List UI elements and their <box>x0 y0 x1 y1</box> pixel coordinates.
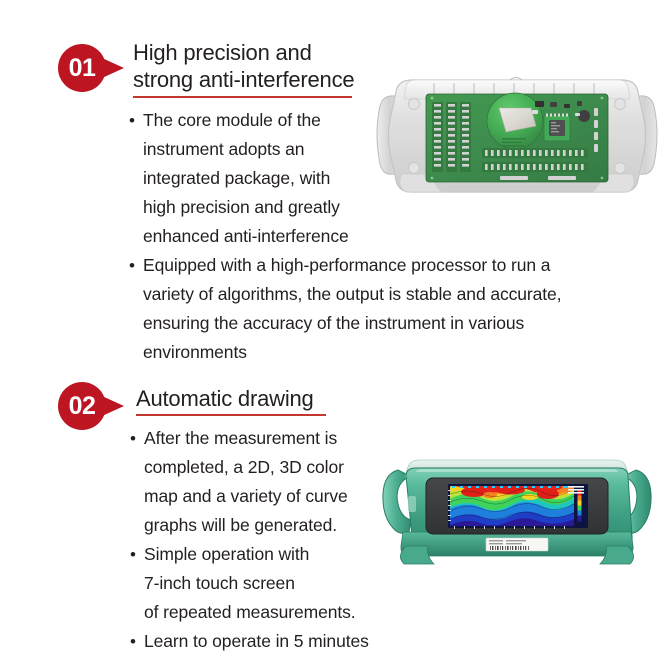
pcb-in-clear-housing-image <box>372 58 662 213</box>
feature-number-badge-02: 02 <box>58 382 130 430</box>
heading-underline-02 <box>136 414 326 416</box>
list-item: Equipped with a high-performance process… <box>129 251 584 367</box>
green-handheld-instrument-image <box>382 432 652 597</box>
list-item: After the measurement is completed, a 2D… <box>130 424 400 540</box>
heading-underline-01 <box>133 96 352 98</box>
feature-block-02: 02 Automatic drawing After the measureme… <box>0 370 670 670</box>
feature-sheet-page: 01 High precision and strong anti-interf… <box>0 0 670 670</box>
feature-block-01: 01 High precision and strong anti-interf… <box>0 0 670 370</box>
colormap-screen <box>448 483 588 529</box>
list-item: Learn to operate in 5 minutes <box>130 627 400 656</box>
feature-heading-02: Automatic drawing <box>136 385 436 412</box>
feature-number-badge-01: 01 <box>58 44 130 92</box>
feature-bullets-02: After the measurement is completed, a 2D… <box>130 424 400 656</box>
product-label <box>486 538 548 551</box>
list-item: The core module of the instrument adopts… <box>129 106 369 251</box>
resistivity-colormap <box>450 483 574 526</box>
color-scale-legend <box>577 490 582 522</box>
list-item: Simple operation with 7-inch touch scree… <box>130 540 400 627</box>
feature-number-01: 01 <box>58 44 106 92</box>
feature-number-02: 02 <box>58 382 106 430</box>
side-port <box>408 496 416 512</box>
